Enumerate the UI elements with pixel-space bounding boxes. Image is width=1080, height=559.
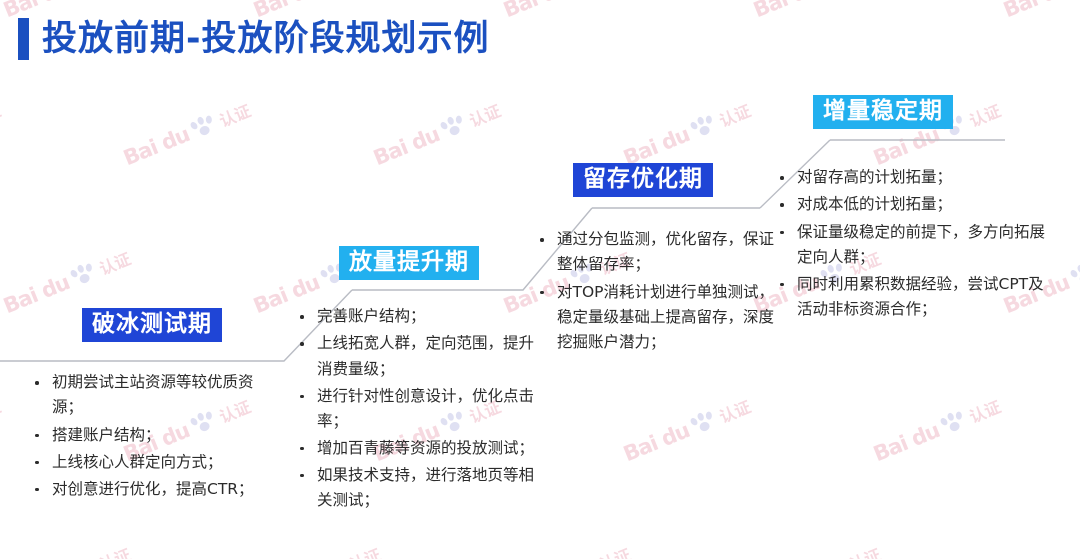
- watermark-mark: Bai du认证: [620, 98, 754, 171]
- stage-column-2: 放量提升期 完善账户结构； 上线拓宽人群，定向范围，提升消费量级； 进行针对性创…: [295, 246, 538, 515]
- paw-print-icon: [438, 113, 470, 141]
- stage-column-3: 留存优化期 通过分包监测，优化留存，保证整体留存率； 对TOP消耗计划进行单独测…: [535, 163, 775, 357]
- stage-4-label[interactable]: 增量稳定期: [813, 95, 953, 129]
- list-item: 上线拓宽人群，定向范围，提升消费量级；: [295, 331, 538, 381]
- watermark-mark: Bai du认证: [1000, 542, 1080, 559]
- list-item: 上线核心人群定向方式；: [30, 450, 280, 475]
- list-item: 同时利用累积数据经验，尝试CPT及活动非标资源合作；: [775, 272, 1055, 322]
- paw-print-icon: [1068, 261, 1080, 289]
- list-item: 搭建账户结构；: [30, 423, 280, 448]
- stage-1-label[interactable]: 破冰测试期: [82, 308, 222, 342]
- slide-canvas: Bai du认证Bai du认证Bai du认证Bai du认证Bai du认证…: [0, 0, 1080, 559]
- watermark-mark: Bai du认证: [0, 98, 4, 171]
- watermark-text-cn: 认证: [965, 394, 1004, 428]
- watermark-text-cn: 认证: [715, 98, 754, 132]
- watermark-mark: Bai du认证: [750, 542, 884, 559]
- watermark-text-latin: Bai du: [370, 122, 443, 170]
- watermark-text-cn: 认证: [95, 542, 134, 559]
- list-item: 保证量级稳定的前提下，多方向拓展定向人群；: [775, 220, 1055, 270]
- stage-2-list: 完善账户结构； 上线拓宽人群，定向范围，提升消费量级； 进行针对性创意设计，优化…: [295, 304, 538, 513]
- watermark-text-cn: 认证: [845, 542, 884, 559]
- paw-print-icon: [188, 113, 220, 141]
- stage-3-list: 通过分包监测，优化留存，保证整体留存率； 对TOP消耗计划进行单独测试，稳定量级…: [535, 227, 775, 355]
- watermark-text-latin: Bai du: [500, 0, 573, 22]
- watermark-mark: Bai du认证: [620, 394, 754, 467]
- watermark-mark: Bai du认证: [1000, 0, 1080, 22]
- paw-print-icon: [688, 113, 720, 141]
- watermark-mark: Bai du认证: [0, 542, 134, 559]
- list-item: 通过分包监测，优化留存，保证整体留存率；: [535, 227, 775, 277]
- watermark-mark: Bai du认证: [500, 0, 634, 22]
- stage-4-list: 对留存高的计划拓量； 对成本低的计划拓量； 保证量级稳定的前提下，多方向拓展定向…: [775, 165, 1055, 322]
- watermark-text-cn: 认证: [715, 394, 754, 428]
- watermark-text-cn: 认证: [595, 542, 634, 559]
- page-title: 投放前期-投放阶段规划示例: [18, 18, 490, 60]
- list-item: 对留存高的计划拓量；: [775, 165, 1055, 190]
- stage-2-label[interactable]: 放量提升期: [339, 246, 479, 280]
- list-item: 增加百青藤等资源的投放测试；: [295, 436, 538, 461]
- list-item: 完善账户结构；: [295, 304, 538, 329]
- title-text: 投放前期-投放阶段规划示例: [42, 22, 490, 57]
- list-item: 对成本低的计划拓量；: [775, 192, 1055, 217]
- watermark-mark: Bai du认证: [500, 542, 634, 559]
- paw-print-icon: [938, 409, 970, 437]
- watermark-text-cn: 认证: [465, 98, 504, 132]
- stage-column-4: 增量稳定期 对留存高的计划拓量； 对成本低的计划拓量； 保证量级稳定的前提下，多…: [775, 95, 1055, 324]
- stage-column-1: 破冰测试期 初期尝试主站资源等较优质资源； 搭建账户结构； 上线核心人群定向方式…: [30, 308, 280, 504]
- list-item: 初期尝试主站资源等较优质资源；: [30, 370, 280, 420]
- list-item: 如果技术支持，进行落地页等相关测试；: [295, 463, 538, 513]
- watermark-text-latin: Bai du: [1000, 0, 1073, 22]
- paw-print-icon: [68, 261, 100, 289]
- watermark-text-cn: 认证: [215, 98, 254, 132]
- watermark-mark: Bai du认证: [0, 394, 4, 467]
- watermark-mark: Bai du认证: [250, 542, 384, 559]
- watermark-text-latin: Bai du: [620, 418, 693, 466]
- list-item: 对TOP消耗计划进行单独测试，稳定量级基础上提高留存，深度挖掘账户潜力；: [535, 280, 775, 355]
- title-accent-bar: [18, 18, 29, 60]
- watermark-text-cn: 认证: [0, 394, 4, 428]
- watermark-mark: Bai du认证: [750, 0, 884, 22]
- watermark-mark: Bai du认证: [370, 98, 504, 171]
- stage-3-label[interactable]: 留存优化期: [573, 163, 713, 197]
- watermark-text-latin: Bai du: [750, 0, 823, 22]
- watermark-mark: Bai du认证: [120, 98, 254, 171]
- watermark-text-latin: Bai du: [870, 418, 943, 466]
- list-item: 对创意进行优化，提高CTR；: [30, 477, 280, 502]
- list-item: 进行针对性创意设计，优化点击率；: [295, 384, 538, 434]
- watermark-mark: Bai du认证: [870, 394, 1004, 467]
- paw-print-icon: [688, 409, 720, 437]
- watermark-text-cn: 认证: [0, 98, 4, 132]
- watermark-text-cn: 认证: [95, 246, 134, 280]
- watermark-text-latin: Bai du: [120, 122, 193, 170]
- stage-1-list: 初期尝试主站资源等较优质资源； 搭建账户结构； 上线核心人群定向方式； 对创意进…: [30, 370, 280, 502]
- watermark-text-cn: 认证: [345, 542, 384, 559]
